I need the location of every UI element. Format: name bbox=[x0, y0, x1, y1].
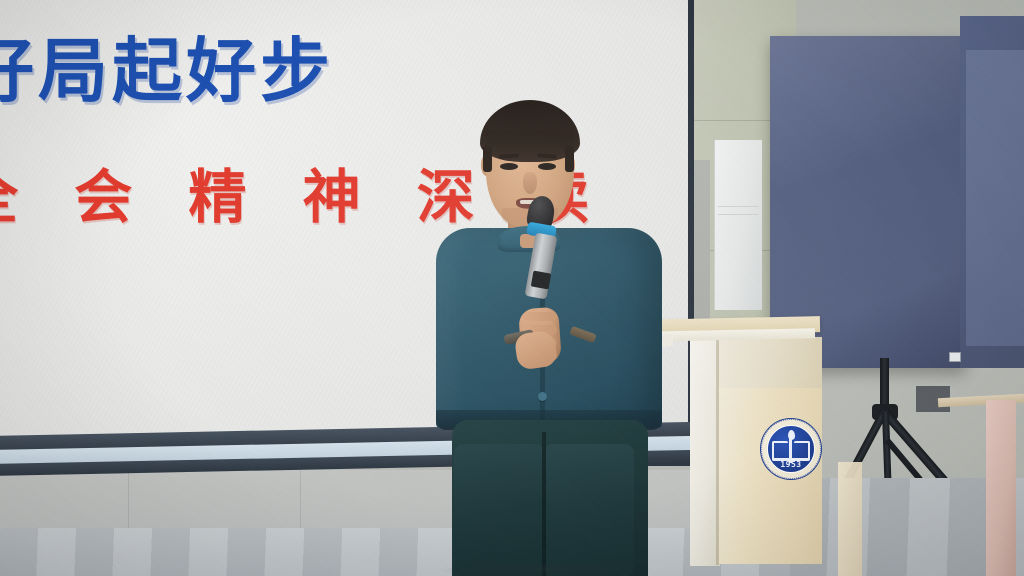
cream-column bbox=[838, 462, 862, 576]
slide-headline-blue: 好局起好步 bbox=[0, 36, 484, 106]
trouser-crease bbox=[542, 432, 546, 576]
speaker-sideburn-left bbox=[483, 146, 492, 172]
speaker-eye-right bbox=[538, 163, 556, 170]
university-emblem-icon: 1953 bbox=[760, 418, 822, 480]
emblem-year: 1953 bbox=[760, 460, 822, 469]
speaker-sideburn-right bbox=[565, 146, 574, 172]
finger bbox=[523, 312, 557, 321]
trouser-leg-right bbox=[546, 444, 634, 576]
trouser-leg-left bbox=[454, 444, 542, 576]
pink-column bbox=[986, 400, 1016, 576]
speaker-eye-left bbox=[500, 163, 518, 170]
lecture-photo-scene: 好局起好步 全 会 精 神 深 读 1953 bbox=[0, 0, 1024, 576]
lectern-corner-edge bbox=[716, 337, 719, 565]
speaker-figure bbox=[424, 92, 674, 576]
speaker-nose bbox=[523, 172, 537, 194]
display-panel-secondary[interactable] bbox=[960, 16, 1024, 368]
speaker-floor-shadow bbox=[438, 562, 654, 576]
wall-sensor-icon bbox=[949, 352, 961, 362]
lectern-body bbox=[718, 388, 822, 564]
wall-cabinet[interactable] bbox=[714, 140, 762, 310]
lectern-neck bbox=[718, 337, 822, 389]
panel-screen-area bbox=[966, 50, 1024, 346]
microphone-display-window bbox=[531, 271, 552, 290]
